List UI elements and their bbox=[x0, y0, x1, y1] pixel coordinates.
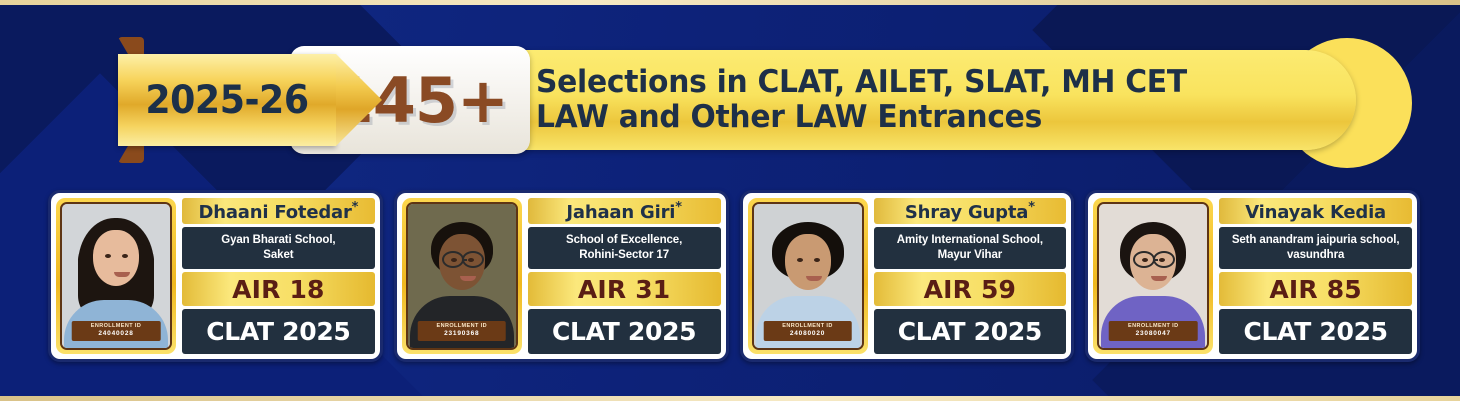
exam-band: CLAT 2025 bbox=[874, 309, 1067, 354]
headline-line-1: Selections in CLAT, AILET, SLAT, MH CET bbox=[536, 65, 1323, 100]
enrollment-badge: ENROLLMENT ID 23190368 bbox=[417, 321, 506, 341]
headline-pill: Selections in CLAT, AILET, SLAT, MH CET … bbox=[508, 50, 1356, 150]
header-banner: Selections in CLAT, AILET, SLAT, MH CET … bbox=[0, 42, 1366, 162]
student-name: Shray Gupta* bbox=[905, 200, 1035, 223]
school-name-line-1: Amity International School, bbox=[897, 233, 1043, 248]
enrollment-label: ENROLLMENT ID bbox=[765, 323, 850, 330]
student-name: Jahaan Giri* bbox=[566, 200, 681, 223]
enrollment-id: 23190368 bbox=[419, 330, 504, 338]
enrollment-id: 23080047 bbox=[1111, 330, 1196, 338]
exam-name: CLAT 2025 bbox=[898, 317, 1042, 346]
photo: ENROLLMENT ID 24080020 bbox=[752, 202, 864, 350]
enrollment-label: ENROLLMENT ID bbox=[419, 323, 504, 330]
enrollment-badge: ENROLLMENT ID 23080047 bbox=[1109, 321, 1198, 341]
enrollment-badge: ENROLLMENT ID 24040028 bbox=[72, 321, 161, 341]
student-name-band: Jahaan Giri* bbox=[528, 198, 721, 224]
air-rank-band: AIR 59 bbox=[874, 272, 1067, 306]
card-info: Shray Gupta* Amity International School,… bbox=[874, 198, 1067, 354]
enrollment-id: 24040028 bbox=[74, 330, 159, 338]
topper-card[interactable]: ENROLLMENT ID 24080020 Shray Gupta* Amit… bbox=[740, 190, 1075, 362]
enrollment-id: 24080020 bbox=[765, 330, 850, 338]
school-band: Seth anandram jaipuria school, vasundhra bbox=[1219, 227, 1412, 269]
school-name-line-2: Rohini-Sector 17 bbox=[579, 248, 669, 263]
exam-name: CLAT 2025 bbox=[206, 317, 350, 346]
exam-name: CLAT 2025 bbox=[552, 317, 696, 346]
exam-band: CLAT 2025 bbox=[182, 309, 375, 354]
photo-frame: ENROLLMENT ID 24080020 bbox=[748, 198, 868, 354]
topper-card[interactable]: ENROLLMENT ID 24040028 Dhaani Fotedar* G… bbox=[48, 190, 383, 362]
student-name-band: Vinayak Kedia bbox=[1219, 198, 1412, 224]
photo-frame: ENROLLMENT ID 23080047 bbox=[1093, 198, 1213, 354]
student-name: Dhaani Fotedar* bbox=[198, 200, 358, 223]
photo-frame: ENROLLMENT ID 23190368 bbox=[402, 198, 522, 354]
photo: ENROLLMENT ID 23080047 bbox=[1097, 202, 1209, 350]
air-rank-band: AIR 85 bbox=[1219, 272, 1412, 306]
enrollment-label: ENROLLMENT ID bbox=[1111, 323, 1196, 330]
school-band: Amity International School, Mayur Vihar bbox=[874, 227, 1067, 269]
top-border-strip bbox=[0, 0, 1460, 5]
air-rank: AIR 18 bbox=[232, 275, 325, 304]
student-name: Vinayak Kedia bbox=[1245, 200, 1386, 223]
exam-band: CLAT 2025 bbox=[528, 309, 721, 354]
bottom-border-strip bbox=[0, 396, 1460, 401]
topper-card[interactable]: ENROLLMENT ID 23190368 Jahaan Giri* Scho… bbox=[394, 190, 729, 362]
air-rank: AIR 85 bbox=[1269, 275, 1362, 304]
school-name-line-1: Seth anandram jaipuria school, bbox=[1232, 233, 1400, 248]
card-info: Jahaan Giri* School of Excellence, Rohin… bbox=[528, 198, 721, 354]
air-rank: AIR 31 bbox=[578, 275, 671, 304]
student-name-band: Shray Gupta* bbox=[874, 198, 1067, 224]
air-rank-band: AIR 31 bbox=[528, 272, 721, 306]
enrollment-label: ENROLLMENT ID bbox=[74, 323, 159, 330]
school-name-line-1: Gyan Bharati School, bbox=[221, 233, 335, 248]
asterisk-mark: * bbox=[675, 200, 682, 215]
school-name-line-2: vasundhra bbox=[1287, 248, 1344, 263]
air-rank: AIR 59 bbox=[924, 275, 1017, 304]
asterisk-mark: * bbox=[352, 200, 359, 215]
school-name-line-2: Mayur Vihar bbox=[938, 248, 1003, 263]
school-name-line-2: Saket bbox=[263, 248, 293, 263]
toppers-card-list: ENROLLMENT ID 24040028 Dhaani Fotedar* G… bbox=[48, 190, 1420, 362]
topper-card[interactable]: ENROLLMENT ID 23080047 Vinayak Kedia Set… bbox=[1085, 190, 1420, 362]
year-ribbon: 2025-26 bbox=[118, 54, 336, 146]
student-name-band: Dhaani Fotedar* bbox=[182, 198, 375, 224]
headline-line-2: LAW and Other LAW Entrances bbox=[536, 100, 1323, 135]
air-rank-band: AIR 18 bbox=[182, 272, 375, 306]
ribbon-fold-bottom bbox=[118, 143, 144, 163]
enrollment-badge: ENROLLMENT ID 24080020 bbox=[763, 321, 852, 341]
card-info: Dhaani Fotedar* Gyan Bharati School, Sak… bbox=[182, 198, 375, 354]
exam-band: CLAT 2025 bbox=[1219, 309, 1412, 354]
school-band: Gyan Bharati School, Saket bbox=[182, 227, 375, 269]
photo-frame: ENROLLMENT ID 24040028 bbox=[56, 198, 176, 354]
school-band: School of Excellence, Rohini-Sector 17 bbox=[528, 227, 721, 269]
asterisk-mark: * bbox=[1028, 200, 1035, 215]
year-label: 2025-26 bbox=[126, 54, 329, 146]
photo: ENROLLMENT ID 24040028 bbox=[60, 202, 172, 350]
exam-name: CLAT 2025 bbox=[1243, 317, 1387, 346]
photo: ENROLLMENT ID 23190368 bbox=[406, 202, 518, 350]
school-name-line-1: School of Excellence, bbox=[566, 233, 682, 248]
card-info: Vinayak Kedia Seth anandram jaipuria sch… bbox=[1219, 198, 1412, 354]
